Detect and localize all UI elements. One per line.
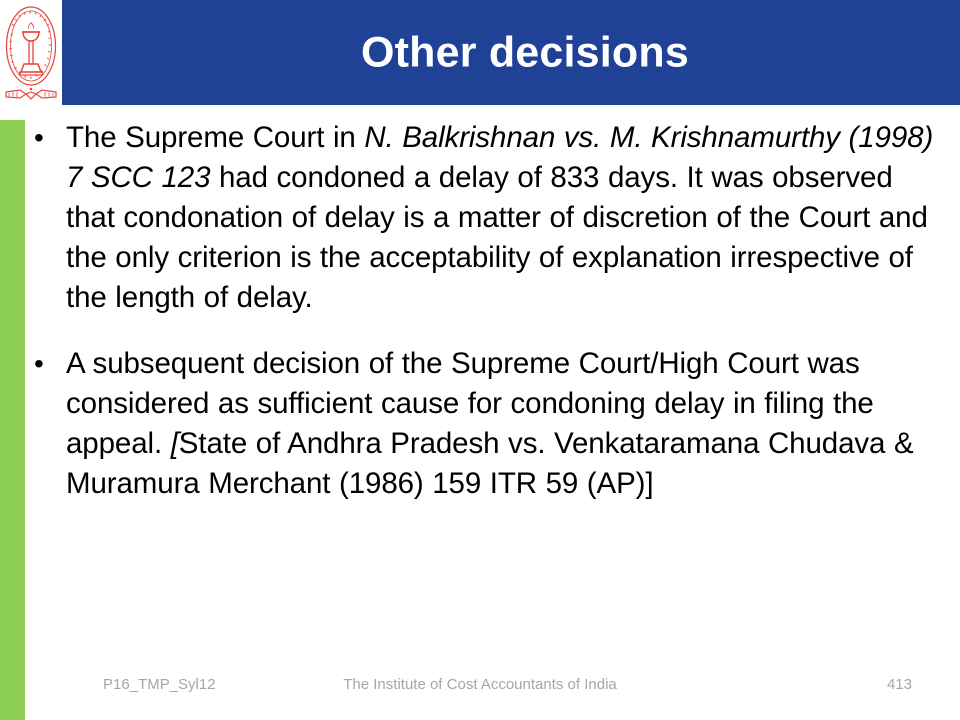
logo-panel [0,0,62,105]
slide-canvas: Other decisions • The Supreme Court in N… [0,0,960,720]
bullet-2-text: A subsequent decision of the Supreme Cou… [66,344,942,504]
bullet-glyph: • [30,344,66,384]
slide-body: • The Supreme Court in N. Balkrishnan vs… [30,118,942,530]
footer-institute-name: The Institute of Cost Accountants of Ind… [0,674,960,696]
bullet-glyph: • [30,118,66,158]
slide-footer: P16_TMP_Syl12 The Institute of Cost Acco… [0,674,960,700]
footer-page-number: 413 [887,674,912,696]
list-item: • A subsequent decision of the Supreme C… [30,344,942,504]
bullet-1-run-0: The Supreme Court in [66,121,364,154]
accent-strip [0,120,25,720]
list-item: • The Supreme Court in N. Balkrishnan vs… [30,118,942,318]
bullet-2-run-1: [ [171,427,179,460]
institute-logo-icon [3,4,59,102]
bullet-2-run-2: State of Andhra Pradesh vs. Venkataraman… [66,427,914,500]
slide-header-bar: Other decisions [62,0,960,105]
bullet-1-text: The Supreme Court in N. Balkrishnan vs. … [66,118,942,318]
page-title: Other decisions [62,30,960,75]
